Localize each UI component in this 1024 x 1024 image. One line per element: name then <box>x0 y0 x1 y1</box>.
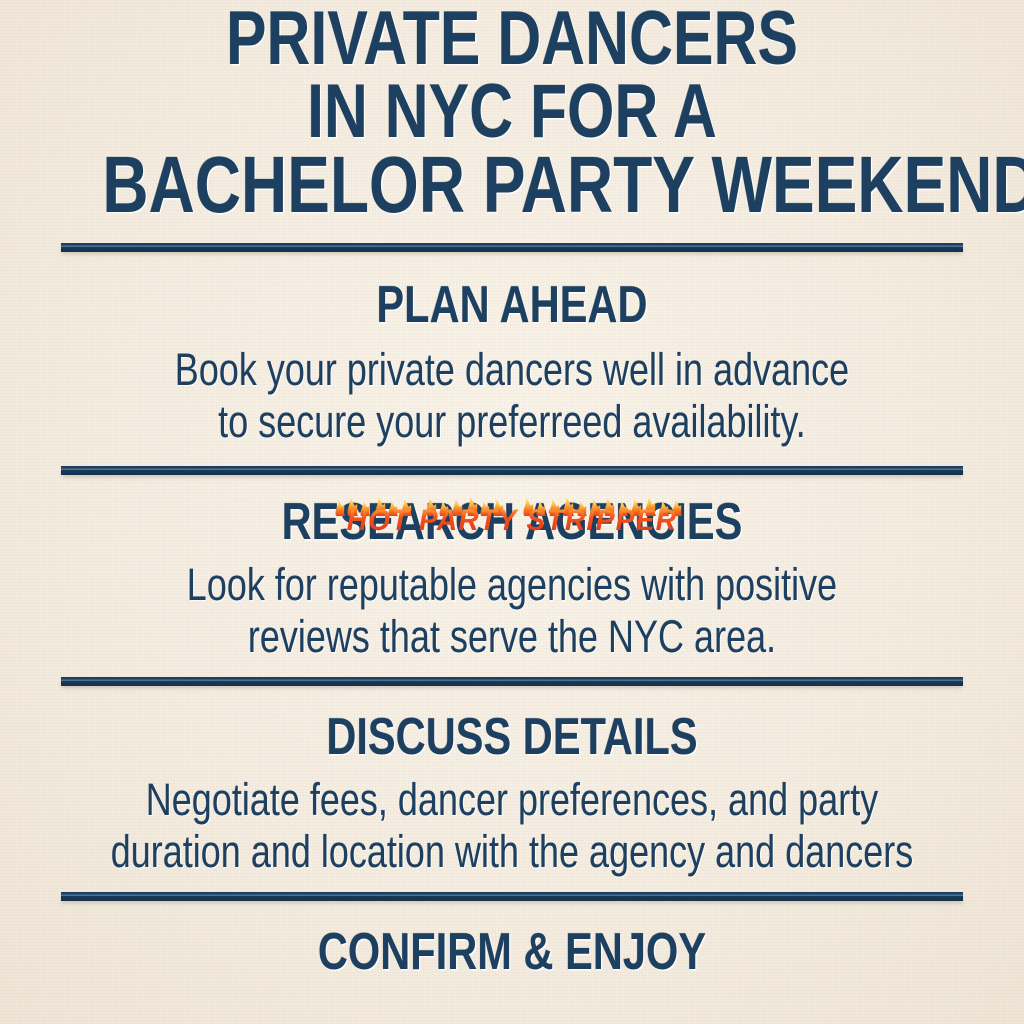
section-body-research-agencies: Look for reputable agencies with positiv… <box>0 551 1024 663</box>
section-confirm-enjoy: CONFIRM & ENJOY <box>0 901 1024 981</box>
divider-4 <box>61 892 963 901</box>
section-discuss-details: DISCUSS DETAILS Negotiate fees, dancer p… <box>0 686 1024 878</box>
infographic-poster: PRIVATE DANCERS IN NYC FOR A BACHELOR PA… <box>0 0 1024 1024</box>
body-line-1: Negotiate fees, dancer preferences, and … <box>102 774 921 826</box>
body-line-2: duration and location with the agency an… <box>102 826 921 878</box>
section-research-agencies: RESEARCH AGENCIES Look for reputable age… <box>0 475 1024 663</box>
section-heading-discuss-details: DISCUSS DETAILS <box>102 708 921 766</box>
title-line-2: IN NYC FOR A <box>102 75 921 148</box>
section-heading-confirm-enjoy: CONFIRM & ENJOY <box>102 923 921 981</box>
body-line-1: Look for reputable agencies with positiv… <box>102 559 921 611</box>
divider-3 <box>61 677 963 686</box>
body-line-2: reviews that serve the NYC area. <box>102 611 921 663</box>
title-line-3: BACHELOR PARTY WEEKEND <box>102 148 921 221</box>
section-heading-plan-ahead: PLAN AHEAD <box>102 276 921 334</box>
section-body-plan-ahead: Book your private dancers well in advanc… <box>0 334 1024 448</box>
body-line-2: to secure your preferreed availability. <box>102 396 921 448</box>
divider-2 <box>61 466 963 475</box>
poster-title: PRIVATE DANCERS IN NYC FOR A BACHELOR PA… <box>0 0 1024 221</box>
body-line-1: Book your private dancers well in advanc… <box>102 344 921 396</box>
divider-1 <box>61 243 963 252</box>
section-heading-research-agencies: RESEARCH AGENCIES <box>102 493 921 551</box>
section-plan-ahead: PLAN AHEAD Book your private dancers wel… <box>0 252 1024 448</box>
title-line-1: PRIVATE DANCERS <box>102 2 921 75</box>
section-body-discuss-details: Negotiate fees, dancer preferences, and … <box>0 766 1024 878</box>
